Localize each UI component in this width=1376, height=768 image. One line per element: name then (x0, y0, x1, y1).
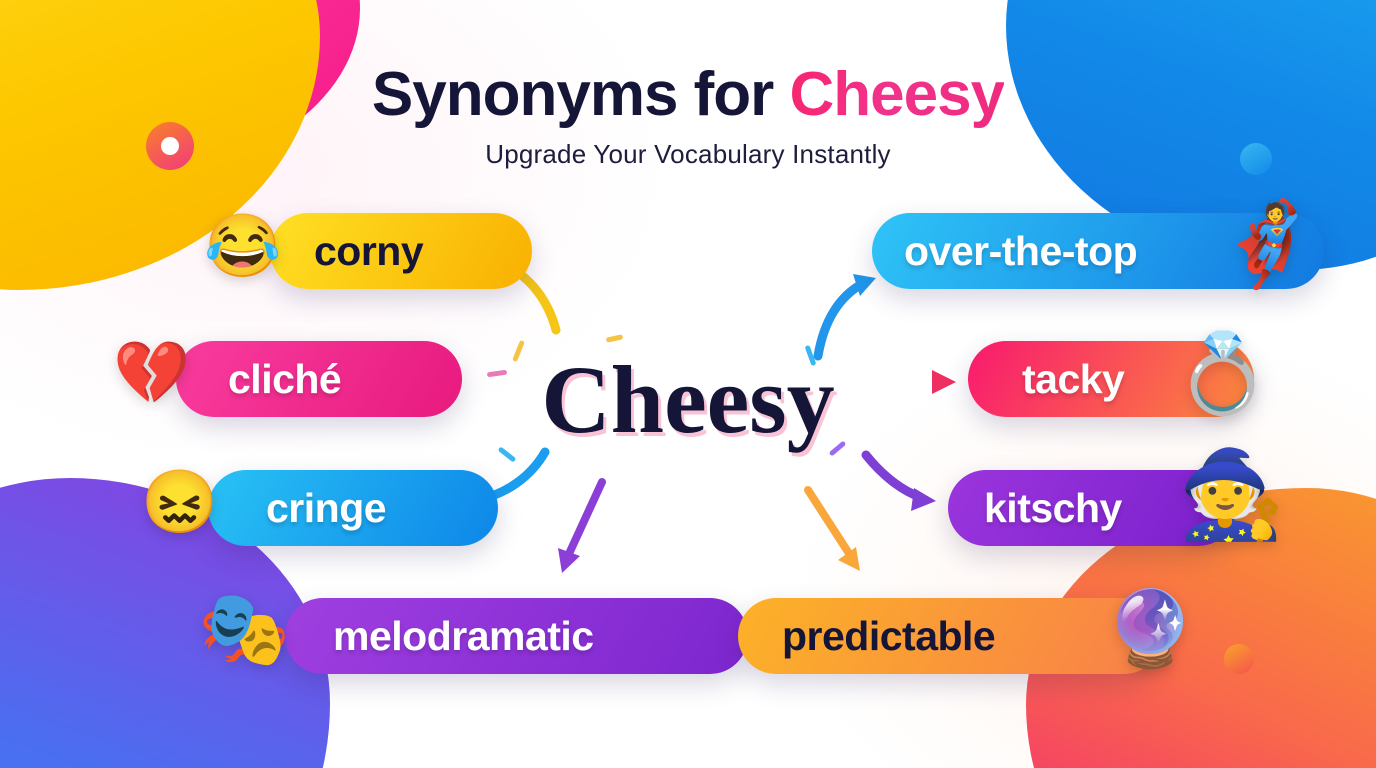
synonym-pill-predictable[interactable]: predictable (738, 598, 1162, 674)
confounded-face-emoji: 😖 (141, 472, 218, 534)
arrow-to-predictable (808, 490, 860, 571)
arrow-to-kitschy (866, 455, 936, 511)
arrow-to-melodramatic (558, 482, 602, 573)
sparkle-decoration (606, 334, 624, 342)
page-title-accent: Cheesy (790, 60, 1005, 129)
synonym-label: kitschy (984, 488, 1122, 529)
synonym-pill-kitschy[interactable]: kitschy (948, 470, 1236, 546)
synonym-label: tacky (1022, 359, 1124, 400)
synonym-pill-melodramatic[interactable]: melodramatic (285, 598, 748, 674)
sparkle-decoration (498, 446, 517, 462)
synonym-pill-tacky[interactable]: tacky (968, 341, 1254, 417)
header: Synonyms for Cheesy Upgrade Your Vocabul… (0, 62, 1376, 170)
page-title: Synonyms for Cheesy (0, 62, 1376, 127)
synonym-label: predictable (782, 616, 995, 657)
performing-arts-masks-emoji: 🎭 (198, 592, 290, 666)
infographic-canvas: Synonyms for Cheesy Upgrade Your Vocabul… (0, 0, 1376, 768)
sparkle-decoration (487, 370, 508, 378)
center-keyword: Cheesy (541, 352, 834, 448)
sparkle-decoration (512, 340, 525, 362)
synonym-pill-cringe[interactable]: cringe (208, 470, 498, 546)
arrow-to-tacky (889, 370, 956, 394)
synonym-pill-corny[interactable]: corny (270, 213, 532, 289)
dot-decoration-bottom-right (1224, 644, 1254, 674)
page-subtitle: Upgrade Your Vocabulary Instantly (0, 139, 1376, 170)
synonym-label: over-the-top (904, 231, 1137, 272)
page-title-main: Synonyms for (372, 60, 790, 129)
synonym-label: corny (314, 231, 423, 272)
synonym-label: cliché (228, 359, 341, 400)
synonym-label: cringe (266, 488, 386, 529)
synonym-pill-cliche[interactable]: cliché (176, 341, 462, 417)
arrow-to-over-the-top (818, 274, 876, 356)
synonym-label: melodramatic (333, 616, 594, 657)
synonym-pill-over-the-top[interactable]: over-the-top (872, 213, 1324, 289)
